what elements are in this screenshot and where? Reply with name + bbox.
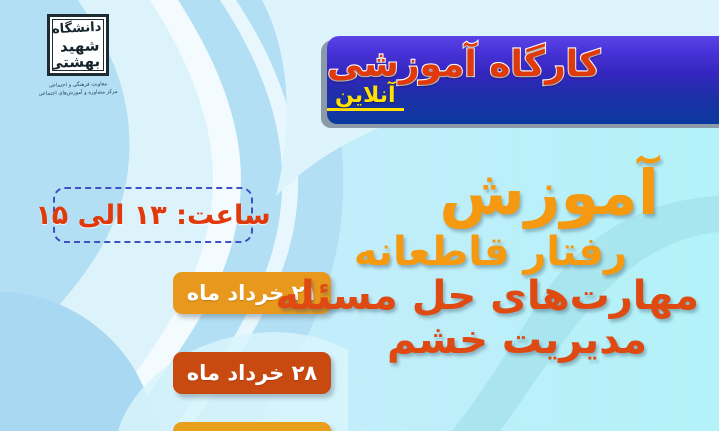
banner-subtitle-row: آنلاین [327,85,600,111]
banner: کارگاه آموزشی آنلاین [327,36,719,124]
workshop-poster: دانشگاه شهید بهشتی معاونت فرهنگی و اجتما… [0,0,719,431]
date-badge-2-label: ۲۸ خرداد ماه [187,361,318,385]
logo-subtitle: معاونت فرهنگی و اجتماعی مرکز مشاوره و آم… [18,79,138,98]
logo-subtitle-line-2: مرکز مشاوره و آموزش‌های اجتماعی [18,87,138,98]
university-logo: دانشگاه شهید بهشتی معاونت فرهنگی و اجتما… [18,6,138,121]
headline-line-1: آموزش [365,162,705,224]
headline-line-4: مدیریت خشم [365,320,705,360]
headline-stack: آموزش رفتار قاطعانه مهارت‌های حل مسئله م… [365,162,705,360]
logo-word-line-3: بهشتی [52,52,100,71]
logo-mark: دانشگاه شهید بهشتی [47,14,109,76]
date-badge-3: ۴ تیر ماه [173,422,331,431]
date-badge-2: ۲۸ خرداد ماه [173,352,331,394]
headline-line-3: مهارت‌های حل مسئله [365,276,705,316]
headline-line-2: رفتار قاطعانه [365,232,705,272]
banner-title: کارگاه آموزشی [327,47,600,83]
banner-content: کارگاه آموزشی آنلاین [327,47,614,113]
time-box: ساعت: ۱۳ الی ۱۵ [53,187,253,243]
banner-online-badge: آنلاین [327,85,404,111]
time-text: ساعت: ۱۳ الی ۱۵ [35,200,270,231]
logo-word-line-1: دانشگاه [52,20,101,38]
